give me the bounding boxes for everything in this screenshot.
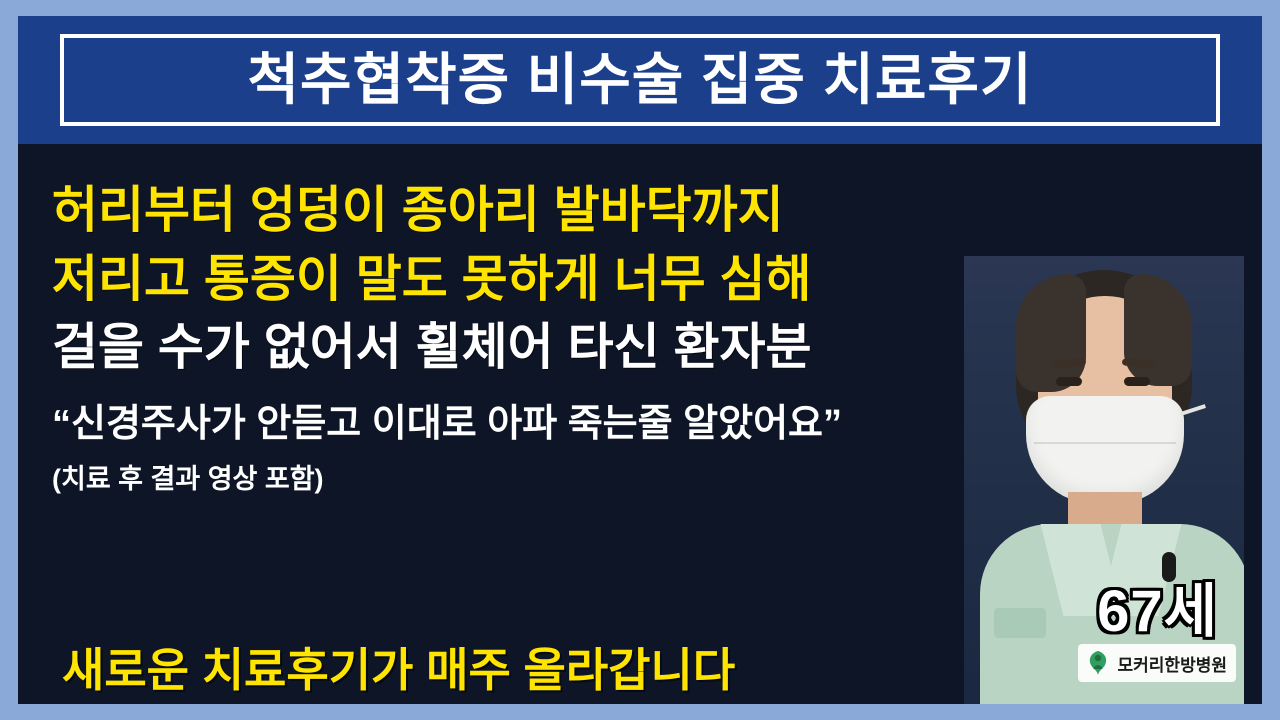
age-badge: 67세	[1097, 564, 1218, 648]
video-note: (치료 후 결과 영상 포함)	[52, 457, 1132, 496]
headline-line-1: 허리부터 엉덩이 종아리 발바닥까지	[52, 184, 1132, 237]
headline-line-3: 걸을 수가 없어서 휠체어 타신 환자분	[52, 321, 1132, 374]
headline-block: 허리부터 엉덩이 종아리 발바닥까지 저리고 통증이 말도 못하게 너무 심해 …	[52, 184, 1132, 496]
gown-badge	[994, 608, 1046, 638]
hospital-logo: 모커리한방병원	[1078, 644, 1236, 682]
title-border: 척추협착증 비수술 집중 치료후기	[60, 34, 1220, 126]
bottom-banner-text: 새로운 치료후기가 매주 올라갑니다	[62, 634, 735, 700]
title-banner: 척추협착증 비수술 집중 치료후기	[18, 16, 1262, 144]
headline-line-2: 저리고 통증이 말도 못하게 너무 심해	[52, 253, 1132, 306]
hospital-name: 모커리한방병원	[1118, 651, 1227, 676]
page-title: 척추협착증 비수술 집중 치료후기	[248, 52, 1033, 108]
patient-quote: “신경주사가 안듣고 이대로 아파 죽는줄 알았어요”	[52, 392, 1132, 447]
leaf-person-icon	[1085, 649, 1111, 677]
thumbnail-image: 허리부터 엉덩이 종아리 발바닥까지 저리고 통증이 말도 못하게 너무 심해 …	[0, 0, 1280, 720]
